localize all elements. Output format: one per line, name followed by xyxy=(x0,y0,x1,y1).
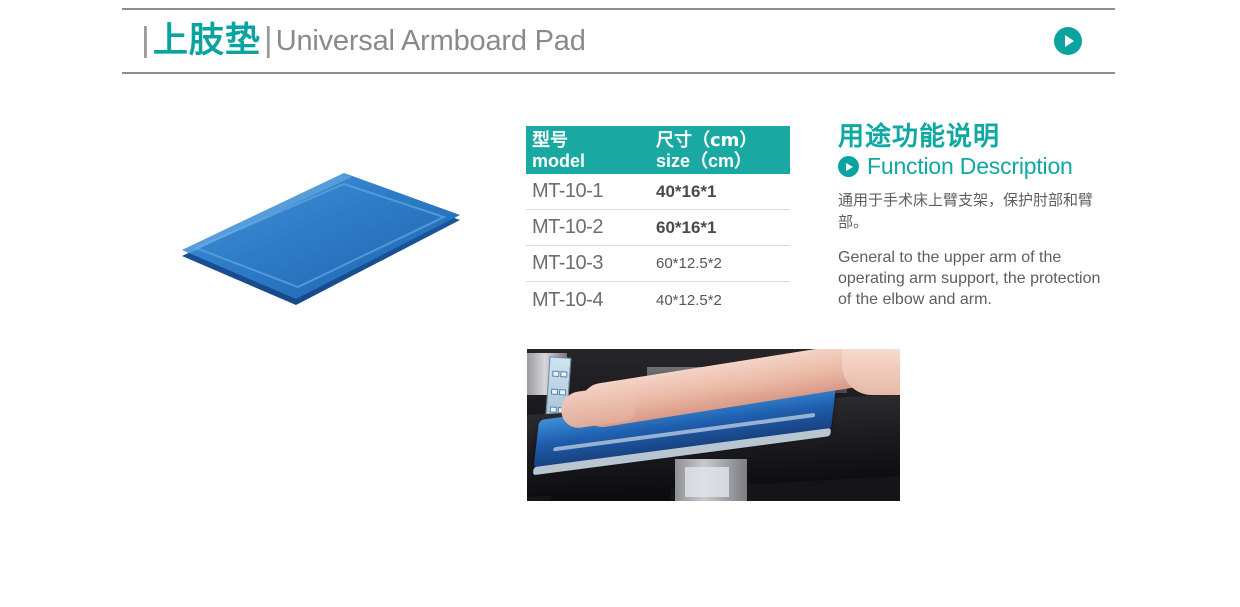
function-body-en: General to the upper arm of the operatin… xyxy=(838,247,1116,310)
function-description-panel: 用途功能说明 Function Description 通用于手术床上臂支架，保… xyxy=(838,122,1116,310)
function-title-row: Function Description xyxy=(838,155,1116,178)
cell-size: 60*16*1 xyxy=(656,218,717,238)
cell-model: MT-10-3 xyxy=(532,252,656,275)
spec-header-model-cn: 型号 xyxy=(532,130,656,151)
spec-header-model: 型号 model xyxy=(532,130,656,169)
title-separator-left: | xyxy=(138,23,153,57)
spec-header-size: 尺寸（cm） size（cm） xyxy=(656,130,757,169)
spec-header-size-cn: 尺寸（cm） xyxy=(656,130,757,151)
spec-table-header: 型号 model 尺寸（cm） size（cm） xyxy=(526,126,790,174)
spec-table: 型号 model 尺寸（cm） size（cm） MT-10-1 40*16*1… xyxy=(526,126,790,318)
play-triangle-icon xyxy=(1065,35,1074,47)
function-body-cn: 通用于手术床上臂支架，保护肘部和臂部。 xyxy=(838,189,1116,233)
table-row: MT-10-4 40*12.5*2 xyxy=(526,282,790,318)
play-triangle-icon xyxy=(846,163,853,171)
photo-base-fade xyxy=(527,501,900,515)
cell-model: MT-10-1 xyxy=(532,180,656,203)
play-circle-icon[interactable] xyxy=(838,156,859,177)
page-header: | 上肢垫 | Universal Armboard Pad xyxy=(122,8,1115,74)
spec-header-size-en: size（cm） xyxy=(656,151,757,172)
photo-pedestal-label xyxy=(685,467,729,497)
page-title-en: Universal Armboard Pad xyxy=(276,27,586,56)
function-title-cn: 用途功能说明 xyxy=(838,122,1116,152)
cell-model: MT-10-2 xyxy=(532,216,656,239)
armboard-pad-illustration xyxy=(168,168,468,313)
cell-model: MT-10-4 xyxy=(532,289,656,312)
spec-header-model-en: model xyxy=(532,151,656,172)
table-row: MT-10-1 40*16*1 xyxy=(526,174,790,210)
title-separator-right: | xyxy=(261,23,276,57)
table-row: MT-10-2 60*16*1 xyxy=(526,210,790,246)
application-photo xyxy=(527,349,900,515)
table-row: MT-10-3 60*12.5*2 xyxy=(526,246,790,282)
page-title: | 上肢垫 | Universal Armboard Pad xyxy=(138,10,586,72)
cell-size: 40*16*1 xyxy=(656,182,717,202)
cell-size: 60*12.5*2 xyxy=(656,255,722,272)
product-image xyxy=(168,168,468,313)
cell-size: 40*12.5*2 xyxy=(656,292,722,309)
function-title-en: Function Description xyxy=(867,155,1073,178)
play-circle-icon[interactable] xyxy=(1054,27,1082,55)
page-title-cn: 上肢垫 xyxy=(153,24,261,59)
